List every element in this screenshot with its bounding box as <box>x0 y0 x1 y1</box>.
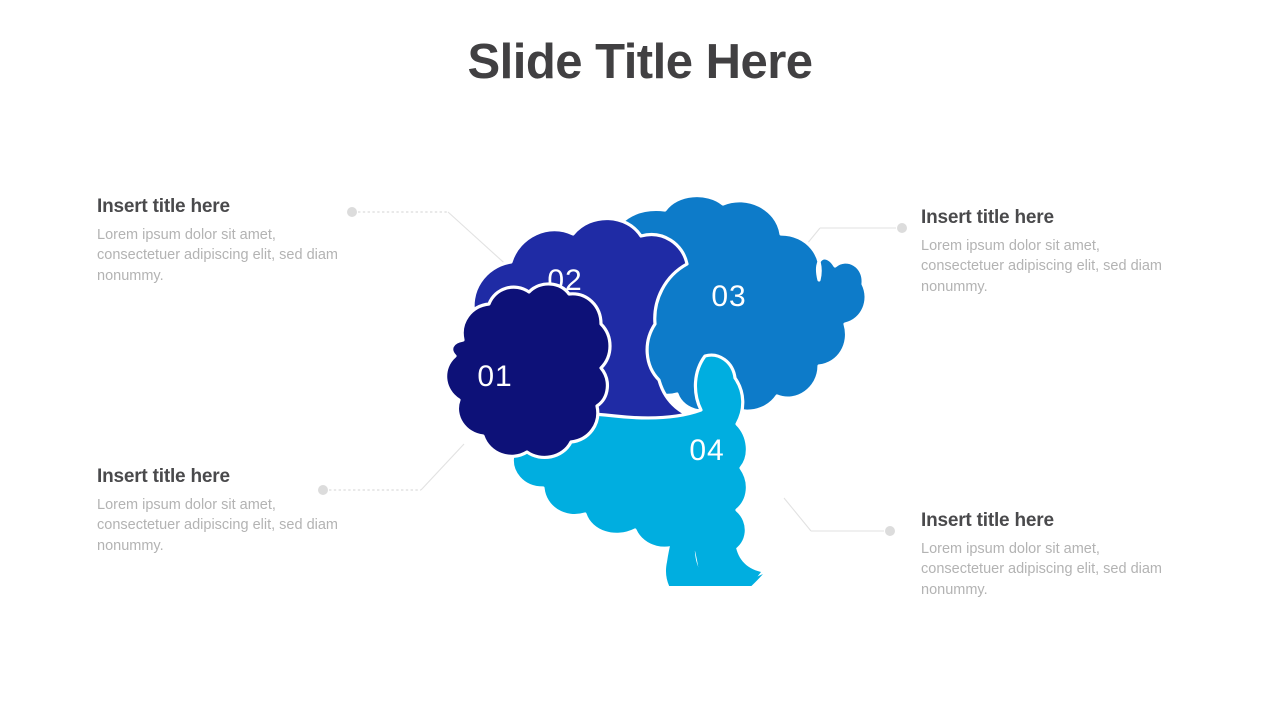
connector-dot <box>897 223 907 233</box>
connector-dot <box>347 207 357 217</box>
callout-bottom-left: Insert title here Lorem ipsum dolor sit … <box>97 466 347 557</box>
segment-number-04: 04 <box>689 434 724 467</box>
callout-top-right: Insert title here Lorem ipsum dolor sit … <box>921 207 1171 298</box>
connector-dot <box>885 526 895 536</box>
brain-diagram: 03 02 04 01 <box>415 196 865 586</box>
callout-body: Lorem ipsum dolor sit amet, consectetuer… <box>921 236 1171 298</box>
callout-body: Lorem ipsum dolor sit amet, consectetuer… <box>97 225 347 287</box>
segment-number-03: 03 <box>711 280 746 313</box>
callout-top-left: Insert title here Lorem ipsum dolor sit … <box>97 196 347 287</box>
callout-title: Insert title here <box>921 510 1171 532</box>
callout-body: Lorem ipsum dolor sit amet, consectetuer… <box>921 539 1171 601</box>
segment-number-01: 01 <box>477 360 512 393</box>
page-title: Slide Title Here <box>0 36 1280 90</box>
callout-body: Lorem ipsum dolor sit amet, consectetuer… <box>97 495 347 557</box>
callout-bottom-right: Insert title here Lorem ipsum dolor sit … <box>921 510 1171 601</box>
callout-title: Insert title here <box>97 196 347 218</box>
slide-canvas: Slide Title Here <box>0 0 1280 720</box>
callout-title: Insert title here <box>97 466 347 488</box>
callout-title: Insert title here <box>921 207 1171 229</box>
brain-segment-01[interactable]: 01 <box>446 284 610 458</box>
